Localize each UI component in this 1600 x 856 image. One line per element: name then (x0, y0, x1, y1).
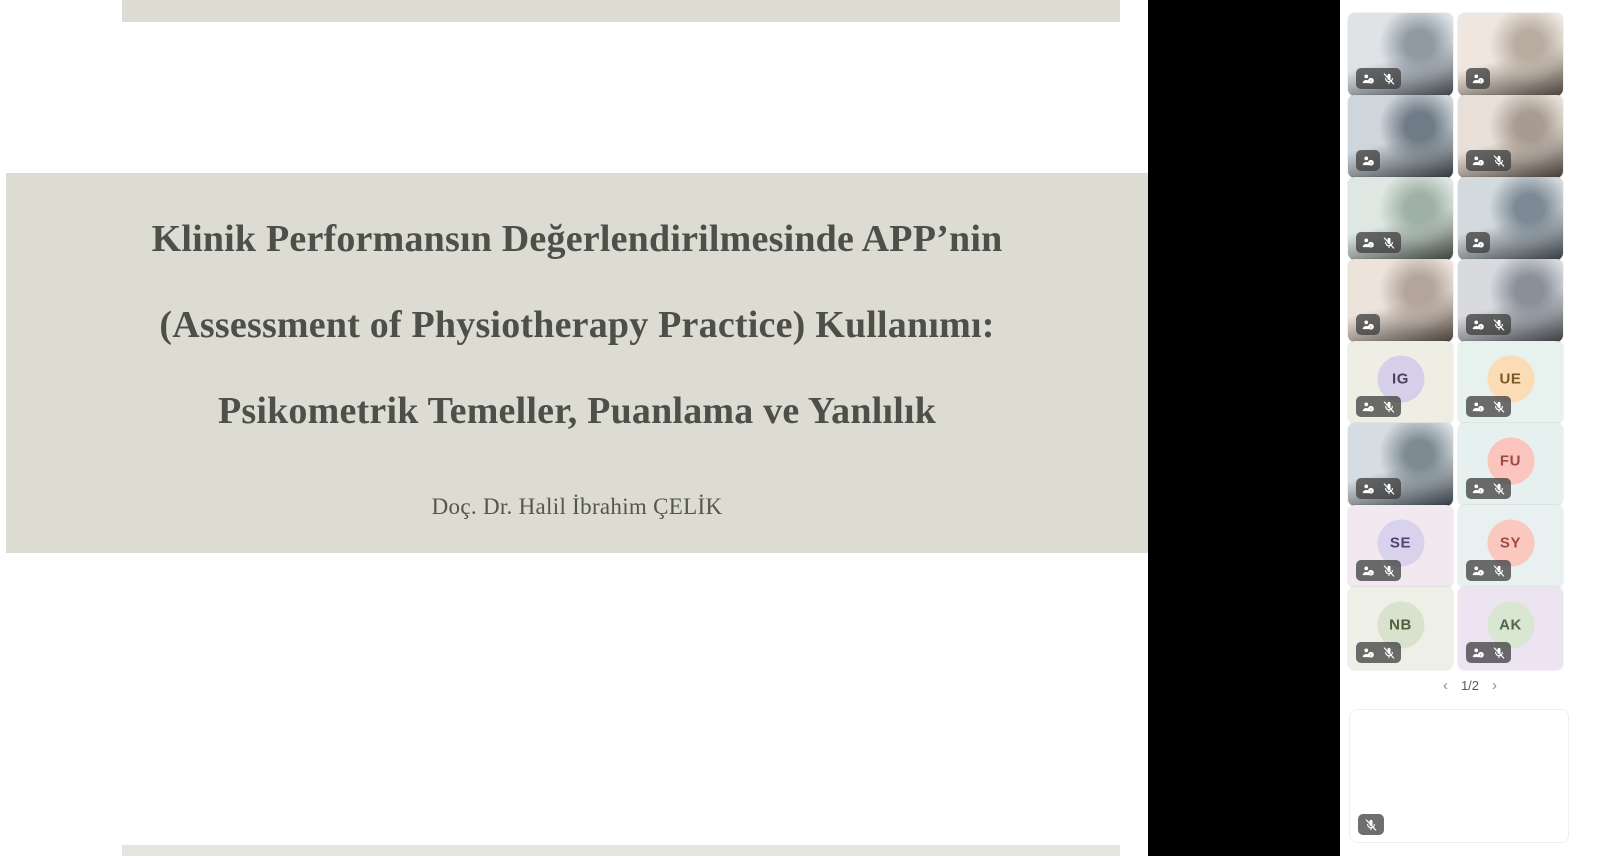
page-title-line-3: Psikometrik Temeller, Puanlama ve Yanlıl… (40, 368, 1114, 454)
tile-status-badge: i (1356, 478, 1401, 499)
meeting-screen: Klinik Performansın Değerlendirilmesinde… (0, 0, 1600, 856)
participant-tile-video[interactable]: i (1348, 423, 1453, 506)
tile-status-badge: i (1356, 68, 1401, 89)
tile-status-badge: i (1466, 478, 1511, 499)
participants-icon: i (1471, 318, 1485, 332)
mic-muted-icon (1492, 154, 1506, 168)
self-view-status-badge (1358, 814, 1384, 835)
participant-tile-fu[interactable]: FUi (1458, 423, 1563, 506)
participant-tile-se[interactable]: SEi (1348, 505, 1453, 588)
page-title-line-2: (Assessment of Physiotherapy Practice) K… (40, 282, 1114, 368)
participants-icon: i (1361, 72, 1375, 86)
tile-status-badge: i (1466, 232, 1490, 253)
slide-top-accent-bar (122, 0, 1120, 22)
tile-status-badge: i (1356, 642, 1401, 663)
chevron-right-icon[interactable]: › (1492, 678, 1497, 693)
tile-status-badge: i (1356, 560, 1401, 581)
participants-icon: i (1471, 236, 1485, 250)
svg-text:i: i (1370, 652, 1371, 657)
presenter-name: Doç. Dr. Halil İbrahim ÇELİK (40, 494, 1114, 520)
participants-icon: i (1471, 72, 1485, 86)
participants-icon: i (1361, 400, 1375, 414)
participants-icon: i (1361, 564, 1375, 578)
participant-tile-nb[interactable]: NBi (1348, 587, 1453, 670)
tile-status-badge: i (1466, 396, 1511, 417)
mic-muted-icon (1382, 236, 1396, 250)
letterbox-gap (1148, 0, 1340, 856)
slide-title-block: Klinik Performansın Değerlendirilmesinde… (40, 196, 1114, 520)
tile-status-badge: i (1466, 314, 1511, 335)
mic-muted-icon (1364, 818, 1378, 832)
svg-text:i: i (1370, 160, 1371, 165)
svg-text:i: i (1370, 406, 1371, 411)
presentation-slide: Klinik Performansın Değerlendirilmesinde… (0, 0, 1148, 856)
shared-screen-stage[interactable]: Klinik Performansın Değerlendirilmesinde… (0, 0, 1148, 856)
tile-status-badge: i (1466, 560, 1511, 581)
page-indicator: 1/2 (1461, 678, 1479, 693)
svg-text:i: i (1480, 652, 1481, 657)
tile-status-badge: i (1356, 396, 1401, 417)
participant-tile-sy[interactable]: SYi (1458, 505, 1563, 588)
participants-icon: i (1361, 646, 1375, 660)
page-title-line-1: Klinik Performansın Değerlendirilmesinde… (40, 196, 1114, 282)
participants-icon: i (1471, 482, 1485, 496)
mic-muted-icon (1382, 72, 1396, 86)
tile-status-badge: i (1466, 68, 1490, 89)
participant-tile-video[interactable]: i (1348, 95, 1453, 178)
tile-status-badge: i (1356, 232, 1401, 253)
svg-text:i: i (1370, 242, 1371, 247)
participants-paginator: ‹ 1/2 › (1340, 678, 1600, 693)
participant-tile-ig[interactable]: IGi (1348, 341, 1453, 424)
tile-status-badge: i (1466, 150, 1511, 171)
mic-muted-icon (1382, 400, 1396, 414)
participant-tile-video[interactable]: i (1458, 13, 1563, 96)
svg-text:i: i (1480, 324, 1481, 329)
tile-status-badge: i (1356, 314, 1380, 335)
participant-tile-video[interactable]: i (1458, 259, 1563, 342)
participant-tile-ue[interactable]: UEi (1458, 341, 1563, 424)
svg-text:i: i (1370, 78, 1371, 83)
participants-sidebar: iiiiiiiiIGiUEiiFUiSEiSYiNBiAKi ‹ 1/2 › (1340, 0, 1600, 856)
svg-text:i: i (1370, 488, 1371, 493)
chevron-left-icon[interactable]: ‹ (1443, 678, 1448, 693)
participants-icon: i (1471, 154, 1485, 168)
svg-text:i: i (1480, 78, 1481, 83)
participant-tile-video[interactable]: i (1348, 177, 1453, 260)
participant-tile-video[interactable]: i (1348, 259, 1453, 342)
svg-text:i: i (1480, 570, 1481, 575)
participant-tile-ak[interactable]: AKi (1458, 587, 1563, 670)
tile-status-badge: i (1356, 150, 1380, 171)
mic-muted-icon (1492, 400, 1506, 414)
svg-text:i: i (1480, 406, 1481, 411)
participants-icon: i (1361, 154, 1375, 168)
mic-muted-icon (1492, 318, 1506, 332)
participants-icon: i (1471, 400, 1485, 414)
mic-muted-icon (1382, 564, 1396, 578)
slide-bottom-accent-bar (122, 845, 1120, 856)
participants-icon: i (1361, 236, 1375, 250)
svg-text:i: i (1370, 570, 1371, 575)
self-view-tile[interactable] (1350, 710, 1568, 842)
mic-muted-icon (1492, 482, 1506, 496)
participant-tile-video[interactable]: i (1348, 13, 1453, 96)
tile-status-badge: i (1466, 642, 1511, 663)
svg-text:i: i (1370, 324, 1371, 329)
participants-icon: i (1361, 318, 1375, 332)
participants-icon: i (1361, 482, 1375, 496)
participants-icon: i (1471, 646, 1485, 660)
participants-icon: i (1471, 564, 1485, 578)
mic-muted-icon (1492, 646, 1506, 660)
mic-muted-icon (1382, 482, 1396, 496)
mic-muted-icon (1382, 646, 1396, 660)
svg-text:i: i (1480, 488, 1481, 493)
mic-muted-icon (1492, 564, 1506, 578)
svg-text:i: i (1480, 242, 1481, 247)
participant-tile-video[interactable]: i (1458, 177, 1563, 260)
participant-tile-video[interactable]: i (1458, 95, 1563, 178)
svg-text:i: i (1480, 160, 1481, 165)
